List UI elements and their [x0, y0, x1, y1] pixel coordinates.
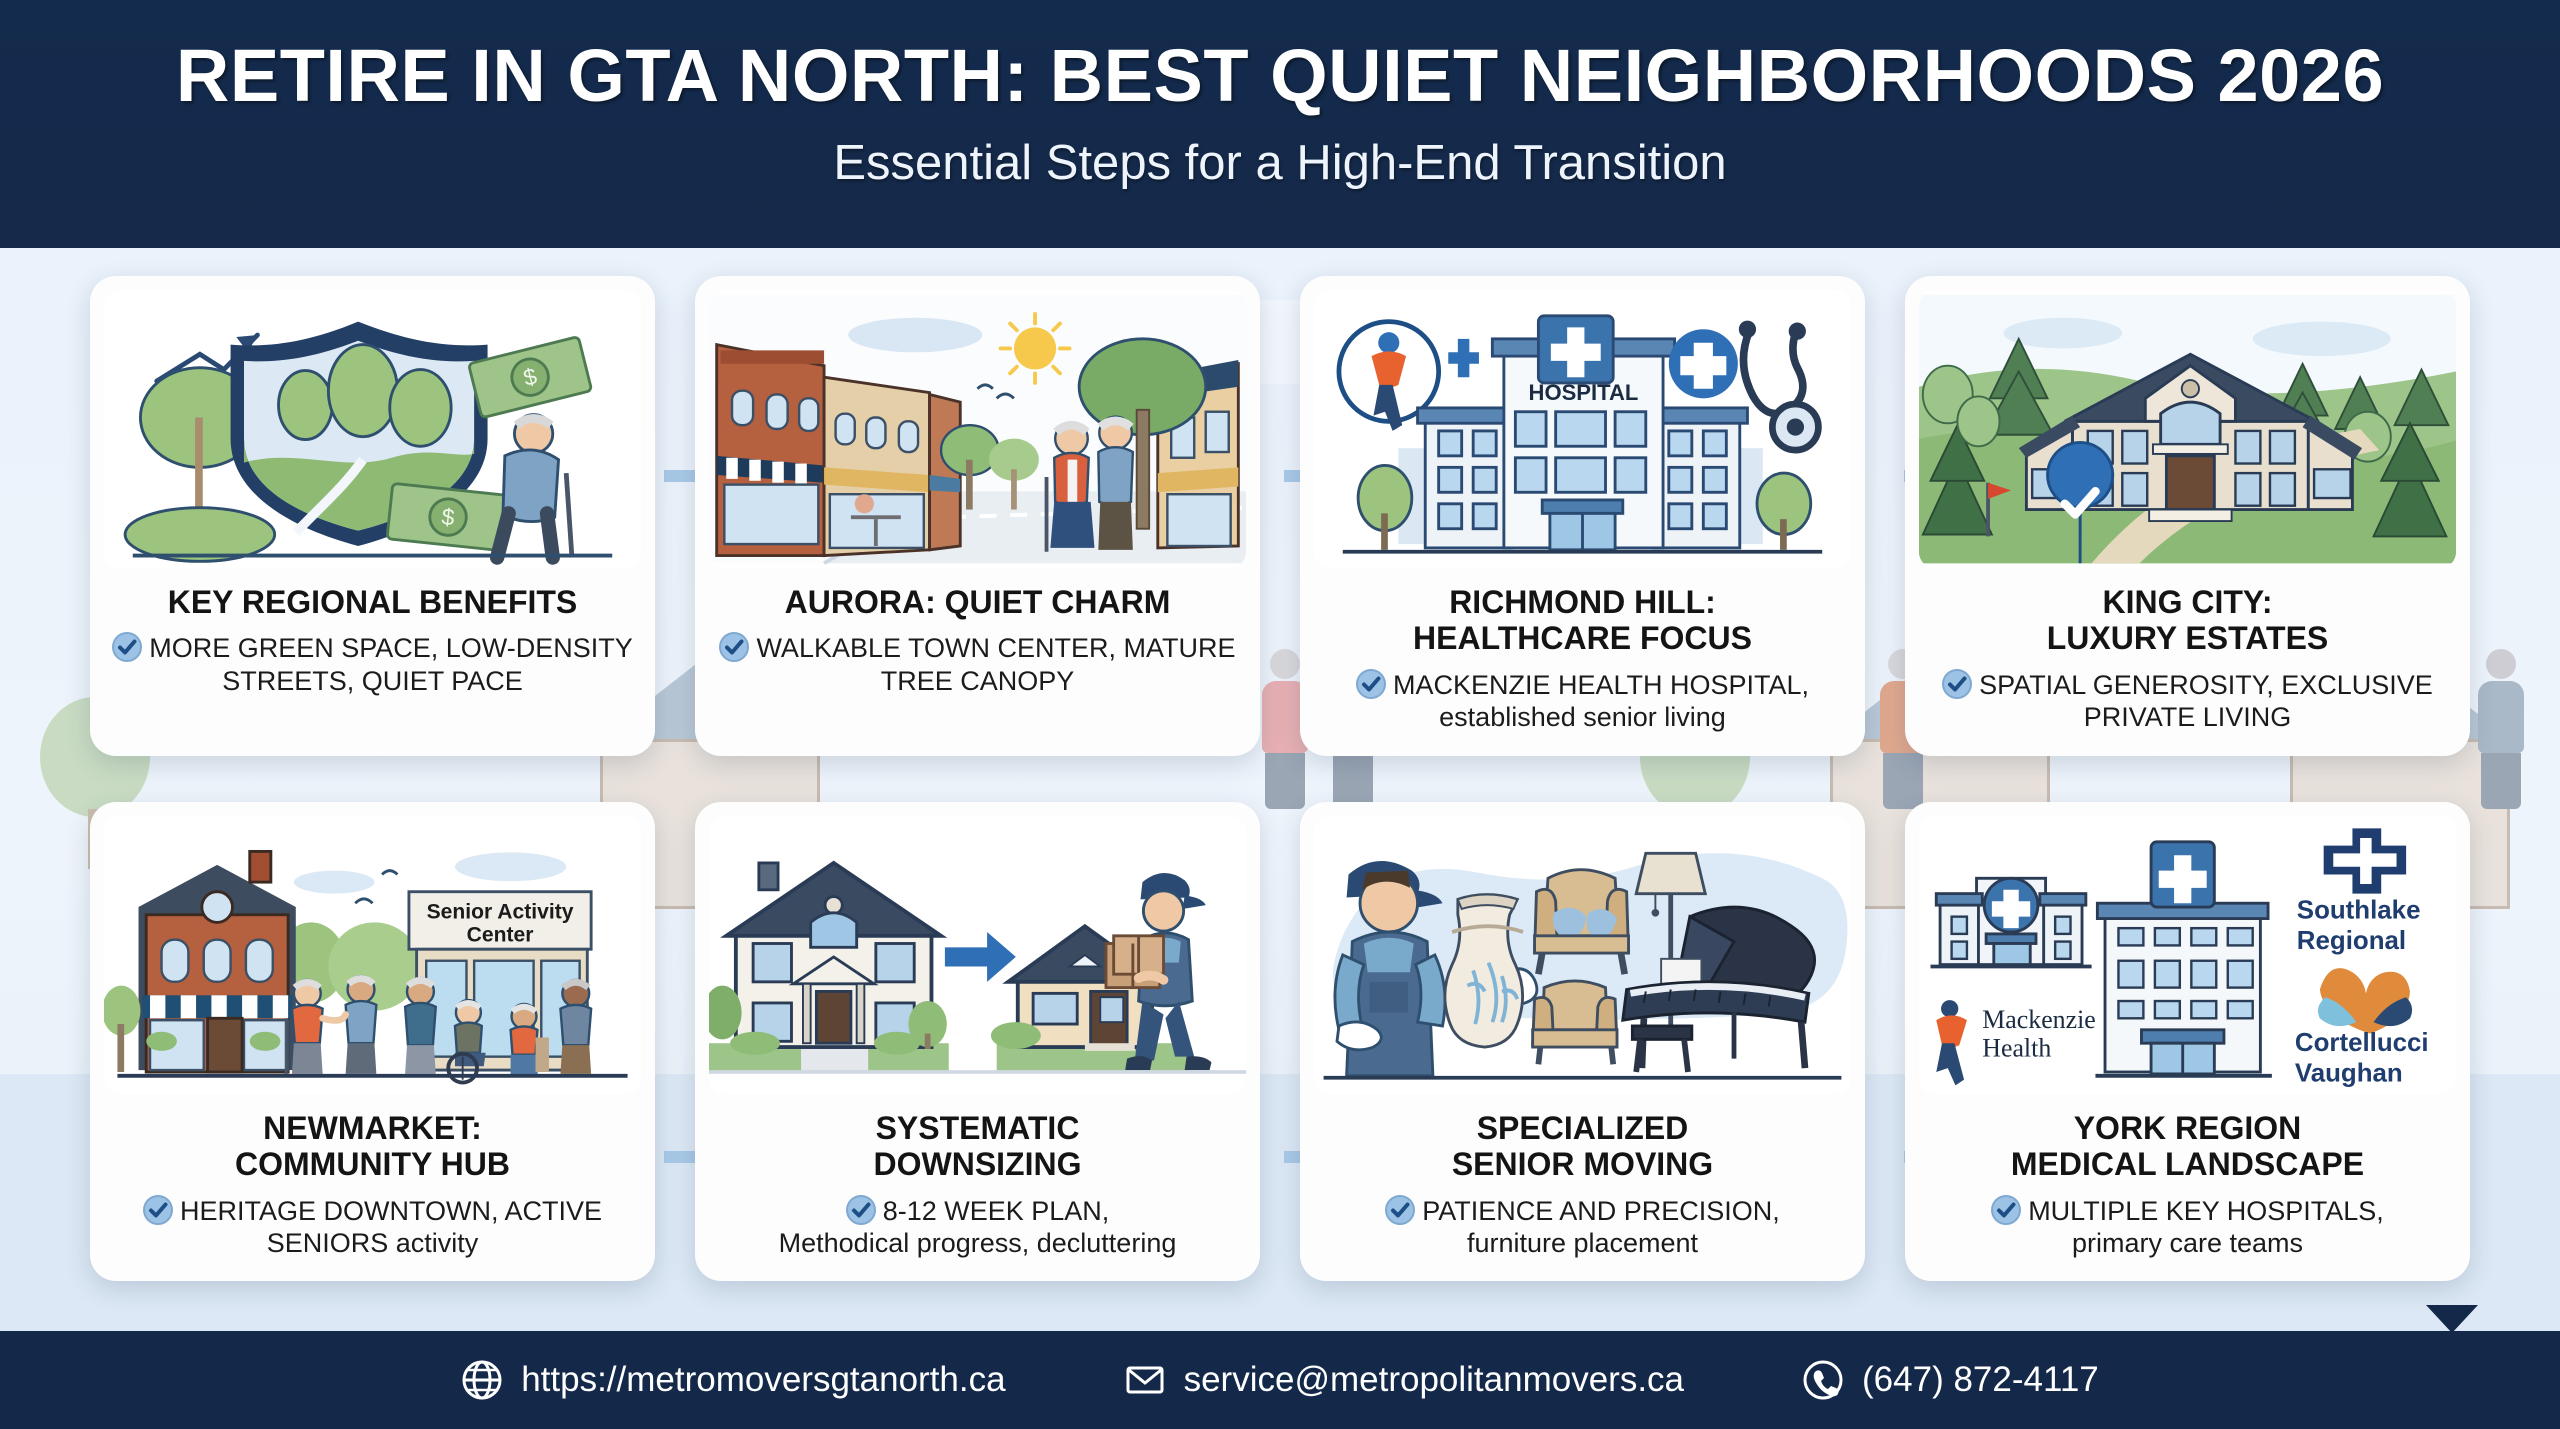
card-grid: $ $ KEY REGIONAL BENEFITS	[0, 276, 2560, 1281]
check-circle-icon	[719, 632, 749, 662]
card-york-region-medical-landscape[interactable]: Mackenzie Health	[1905, 802, 2470, 1282]
card-body: SPATIAL GENEROSITY, EXCLUSIVE PRIVATE LI…	[1919, 669, 2456, 734]
card-title: AURORA: QUIET CHARM	[709, 584, 1246, 620]
footer-phone[interactable]: (647) 872-4117	[1802, 1359, 2099, 1401]
card-specialized-senior-moving[interactable]: SPECIALIZED SENIOR MOVING PATIENCE AND P…	[1300, 802, 1865, 1282]
senior-activity-center-label-line1: Senior Activity	[427, 900, 574, 923]
card-body: MORE GREEN SPACE, LOW-DENSITY STREETS, Q…	[104, 632, 641, 697]
card-body-lower: established senior living	[1318, 701, 1847, 733]
logo-southlake-line1: Southlake	[2297, 896, 2421, 924]
senior-activity-center-label-line2: Center	[467, 923, 534, 946]
logo-mackenzie-line2: Health	[1982, 1033, 2051, 1062]
illustration-main-street	[709, 290, 1246, 568]
card-body: MACKENZIE HEALTH HOSPITAL, established s…	[1314, 669, 1851, 734]
footer-phone-text: (647) 872-4117	[1862, 1360, 2099, 1400]
card-body: MULTIPLE KEY HOSPITALS, primary care tea…	[1919, 1195, 2456, 1260]
logo-cortellucci-line1: Cortellucci	[2295, 1029, 2429, 1057]
phone-icon	[1802, 1359, 1844, 1401]
check-circle-icon	[1942, 669, 1972, 699]
check-circle-icon	[112, 632, 142, 662]
card-body: 8-12 WEEK PLAN, Methodical progress, dec…	[709, 1195, 1246, 1260]
logo-cortellucci-line2: Vaughan	[2295, 1059, 2403, 1087]
card-body-caps: WALKABLE TOWN CENTER, MATURE TREE CANOPY	[756, 633, 1235, 695]
card-body-lower: activity	[388, 1228, 478, 1258]
check-circle-icon	[1991, 1195, 2021, 1225]
illustration-hospital-logos: Mackenzie Health	[1919, 816, 2456, 1094]
card-body-caps: SPATIAL GENEROSITY, EXCLUSIVE PRIVATE LI…	[1979, 670, 2433, 732]
logo-southlake-line2: Regional	[2297, 927, 2406, 955]
card-body-caps: MULTIPLE KEY HOSPITALS,	[2028, 1196, 2384, 1226]
card-body: HERITAGE DOWNTOWN, ACTIVE SENIORS activi…	[104, 1195, 641, 1260]
card-title: NEWMARKET: COMMUNITY HUB	[104, 1110, 641, 1183]
globe-icon	[461, 1359, 503, 1401]
card-aurora-quiet-charm[interactable]: AURORA: QUIET CHARM WALKABLE TOWN CENTER…	[695, 276, 1260, 756]
header-banner: RETIRE IN GTA NORTH: BEST QUIET NEIGHBOR…	[0, 0, 2560, 248]
card-row-top: $ $ KEY REGIONAL BENEFITS	[0, 276, 2560, 756]
card-body-lower: primary care teams	[1923, 1227, 2452, 1259]
check-circle-icon	[143, 1195, 173, 1225]
card-title: KING CITY: LUXURY ESTATES	[1919, 584, 2456, 657]
page-title: RETIRE IN GTA NORTH: BEST QUIET NEIGHBOR…	[0, 38, 2560, 113]
card-systematic-downsizing[interactable]: SYSTEMATIC DOWNSIZING 8-12 WEEK PLAN, Me…	[695, 802, 1260, 1282]
envelope-icon	[1124, 1359, 1166, 1401]
check-circle-icon	[1385, 1195, 1415, 1225]
card-body: WALKABLE TOWN CENTER, MATURE TREE CANOPY	[709, 632, 1246, 697]
illustration-hospital: HOSPITAL	[1314, 290, 1851, 568]
card-title: RICHMOND HILL: HEALTHCARE FOCUS	[1314, 584, 1851, 657]
hospital-label: HOSPITAL	[1529, 380, 1639, 405]
check-circle-icon	[1356, 669, 1386, 699]
illustration-shield-greenspace: $ $	[104, 290, 641, 568]
card-title: SYSTEMATIC DOWNSIZING	[709, 1110, 1246, 1183]
footer-email[interactable]: service@metropolitanmovers.ca	[1124, 1359, 1684, 1401]
card-key-regional-benefits[interactable]: $ $ KEY REGIONAL BENEFITS	[90, 276, 655, 756]
card-body-caps: MORE GREEN SPACE, LOW-DENSITY STREETS, Q…	[149, 633, 633, 695]
card-body-caps: MACKENZIE HEALTH HOSPITAL,	[1393, 670, 1809, 700]
illustration-senior-moving	[1314, 816, 1851, 1094]
card-body-lower: furniture placement	[1318, 1227, 1847, 1259]
footer-website[interactable]: https://metromoversgtanorth.ca	[461, 1359, 1005, 1401]
footer-contact-bar: https://metromoversgtanorth.ca service@m…	[0, 1331, 2560, 1429]
card-title: YORK REGION MEDICAL LANDSCAPE	[1919, 1110, 2456, 1183]
card-title: SPECIALIZED SENIOR MOVING	[1314, 1110, 1851, 1183]
illustration-heritage-downtown: Senior Activity Center	[104, 816, 641, 1094]
card-king-city-luxury-estates[interactable]: KING CITY: LUXURY ESTATES SPATIAL GENERO…	[1905, 276, 2470, 756]
footer-email-text: service@metropolitanmovers.ca	[1184, 1360, 1684, 1400]
card-body-lower: Methodical progress, decluttering	[713, 1227, 1242, 1259]
illustration-downsizing	[709, 816, 1246, 1094]
card-newmarket-community-hub[interactable]: Senior Activity Center	[90, 802, 655, 1282]
card-title: KEY REGIONAL BENEFITS	[104, 584, 641, 620]
check-circle-icon	[846, 1195, 876, 1225]
footer-notch	[2426, 1305, 2478, 1333]
card-body-caps: PATIENCE AND PRECISION,	[1422, 1196, 1780, 1226]
page-subtitle: Essential Steps for a High-End Transitio…	[0, 135, 2560, 191]
card-body: PATIENCE AND PRECISION, furniture placem…	[1314, 1195, 1851, 1260]
card-body-caps: 8-12 WEEK PLAN,	[883, 1196, 1110, 1226]
card-richmond-hill-healthcare[interactable]: HOSPITAL	[1300, 276, 1865, 756]
card-row-bottom: Senior Activity Center	[0, 802, 2560, 1282]
illustration-luxury-estate	[1919, 290, 2456, 568]
logo-mackenzie-line1: Mackenzie	[1982, 1005, 2096, 1034]
footer-website-text: https://metromoversgtanorth.ca	[521, 1360, 1005, 1400]
